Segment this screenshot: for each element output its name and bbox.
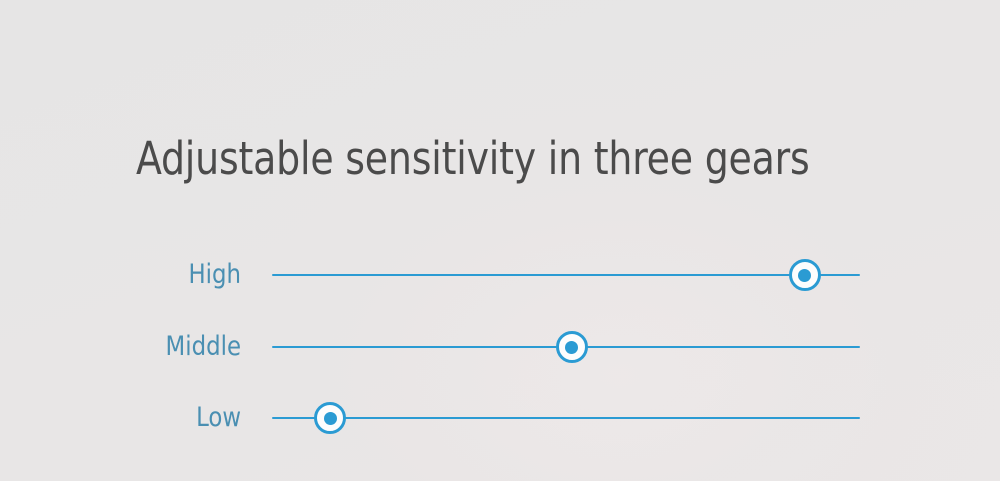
slider-row-middle[interactable]: Middle	[0, 327, 1000, 367]
slider-knob-dot-high	[798, 269, 811, 282]
slider-knob-dot-low	[324, 412, 337, 425]
slider-track-low[interactable]	[272, 398, 860, 438]
slider-label-high: High	[52, 255, 241, 295]
slider-knob-middle[interactable]	[556, 331, 588, 363]
slider-track-middle[interactable]	[272, 327, 860, 367]
slider-label-middle: Middle	[52, 327, 241, 367]
slider-track-line-low	[272, 417, 860, 419]
slider-knob-dot-middle	[565, 341, 578, 354]
slider-label-low: Low	[52, 398, 241, 438]
slider-knob-low[interactable]	[314, 402, 346, 434]
page-title: Adjustable sensitivity in three gears	[136, 131, 819, 187]
slider-knob-high[interactable]	[789, 259, 821, 291]
slider-row-high[interactable]: High	[0, 255, 1000, 295]
slider-track-high[interactable]	[272, 255, 860, 295]
slider-track-line-high	[272, 274, 860, 276]
slider-row-low[interactable]: Low	[0, 398, 1000, 438]
sensitivity-settings-panel: Adjustable sensitivity in three gears Hi…	[0, 0, 1000, 481]
